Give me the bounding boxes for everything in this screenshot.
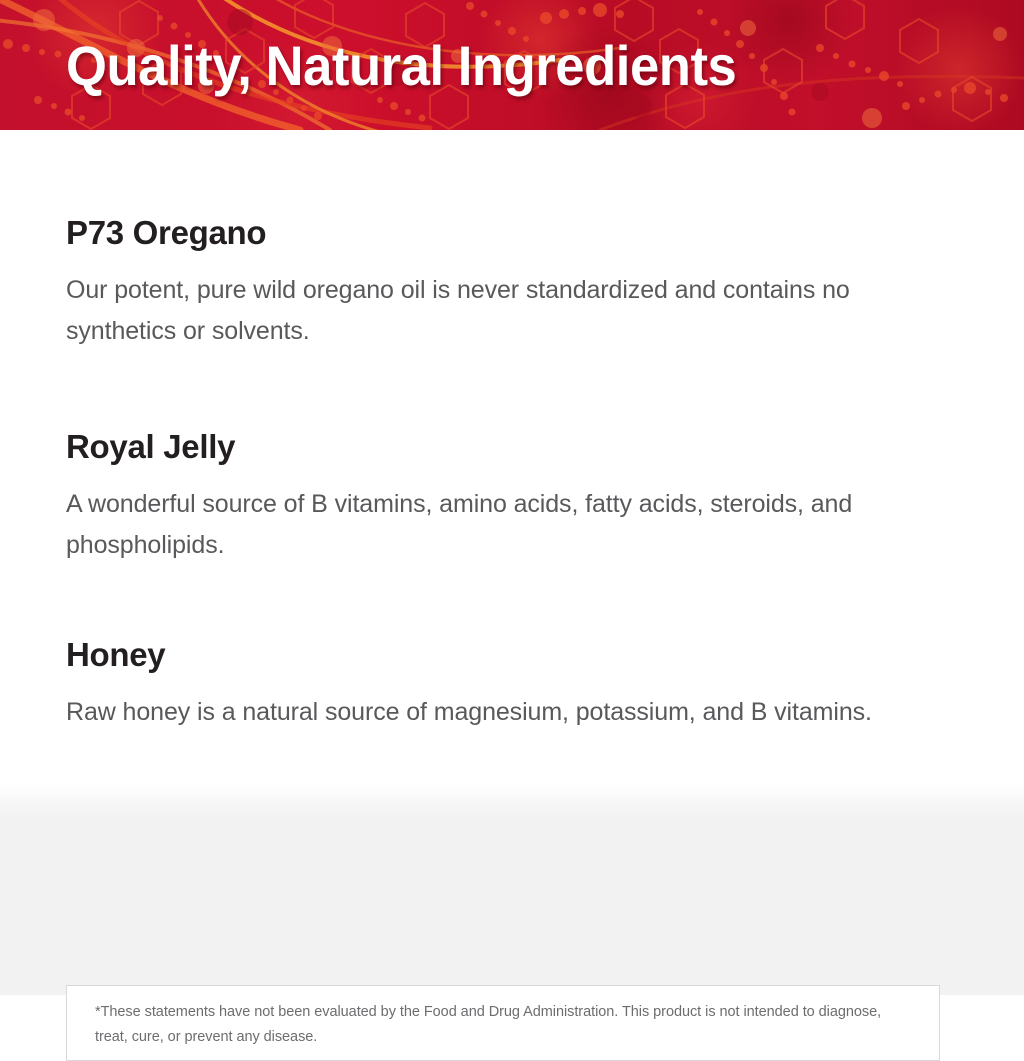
ingredient-heading: Honey [66,635,946,675]
ingredient-section-royal-jelly: Royal Jelly A wonderful source of B vita… [66,427,946,566]
ingredient-heading: Royal Jelly [66,427,946,467]
ingredient-heading: P73 Oregano [66,213,946,253]
fda-disclaimer-text: *These statements have not been evaluate… [67,986,939,1050]
banner-title: Quality, Natural Ingredients [66,0,736,130]
ingredient-description: Our potent, pure wild oregano oil is nev… [66,253,911,352]
content-area: P73 Oregano Our potent, pure wild oregan… [0,130,1024,995]
ingredient-description: A wonderful source of B vitamins, amino … [66,467,911,566]
page-banner: Quality, Natural Ingredients [0,0,1024,130]
ingredient-description: Raw honey is a natural source of magnesi… [66,675,911,733]
ingredient-section-p73-oregano: P73 Oregano Our potent, pure wild oregan… [66,213,946,352]
ingredient-section-honey: Honey Raw honey is a natural source of m… [66,635,946,733]
fda-disclaimer-box: *These statements have not been evaluate… [66,985,940,1061]
